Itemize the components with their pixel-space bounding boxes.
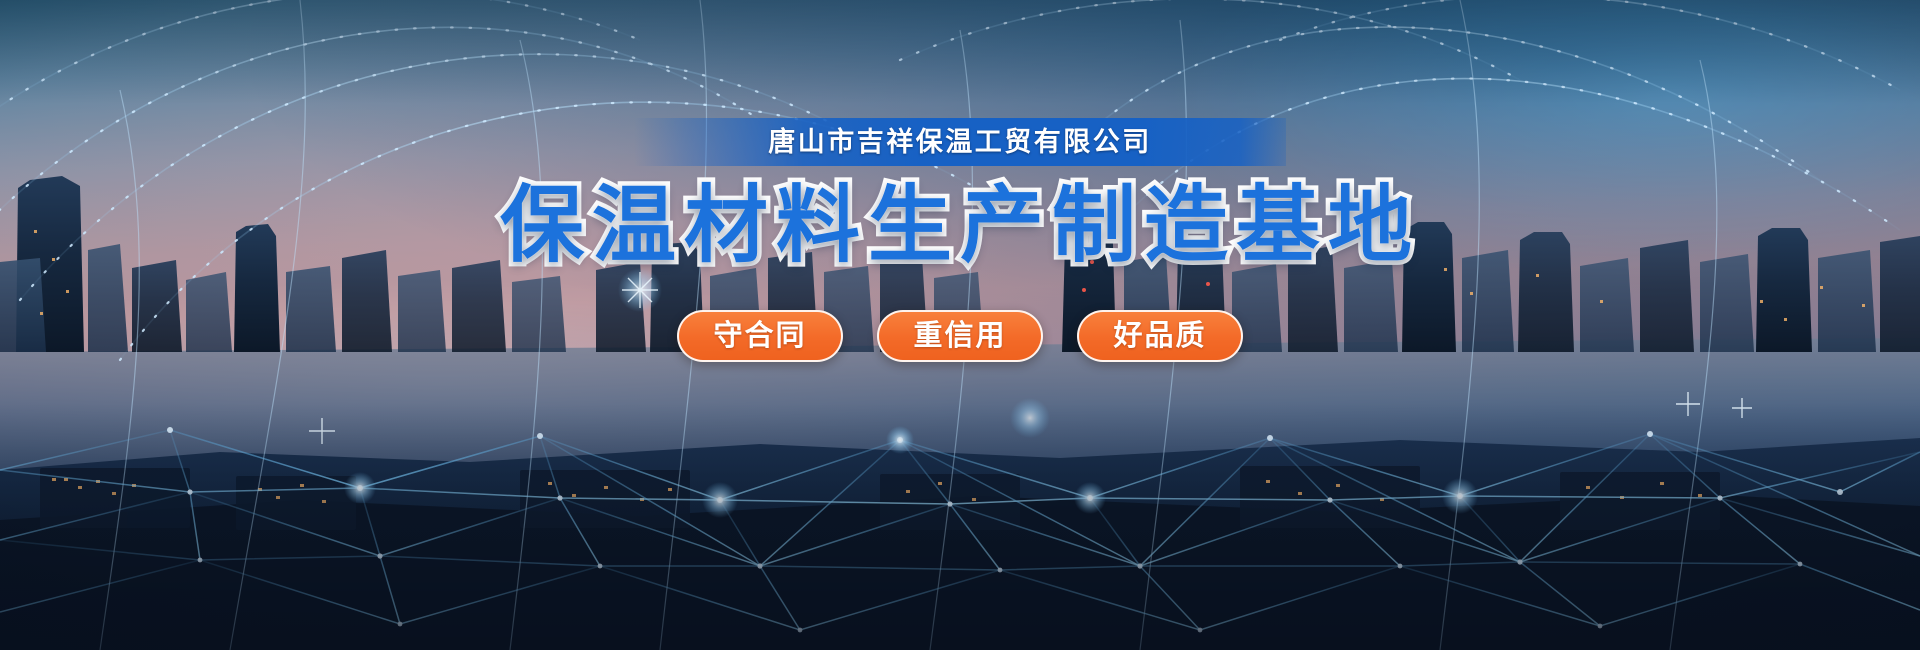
company-name: 唐山市吉祥保温工贸有限公司	[768, 129, 1152, 156]
slogan-badge-list: 守合同 重信用 好品质	[677, 310, 1243, 362]
page-title: 保温材料生产制造基地	[500, 178, 1420, 272]
slogan-badge-contract-label: 守合同	[713, 322, 806, 351]
slogan-badge-quality-label: 好品质	[1113, 322, 1206, 351]
hero-banner: 唐山市吉祥保温工贸有限公司 保温材料生产制造基地 守合同 重信用 好品质	[0, 0, 1920, 650]
slogan-badge-credit[interactable]: 重信用	[877, 310, 1043, 362]
slogan-badge-quality[interactable]: 好品质	[1077, 310, 1243, 362]
slogan-badge-contract[interactable]: 守合同	[677, 310, 843, 362]
slogan-badge-credit-label: 重信用	[913, 322, 1006, 351]
company-name-band: 唐山市吉祥保温工贸有限公司	[634, 118, 1286, 166]
banner-content: 唐山市吉祥保温工贸有限公司 保温材料生产制造基地 守合同 重信用 好品质	[0, 0, 1920, 650]
